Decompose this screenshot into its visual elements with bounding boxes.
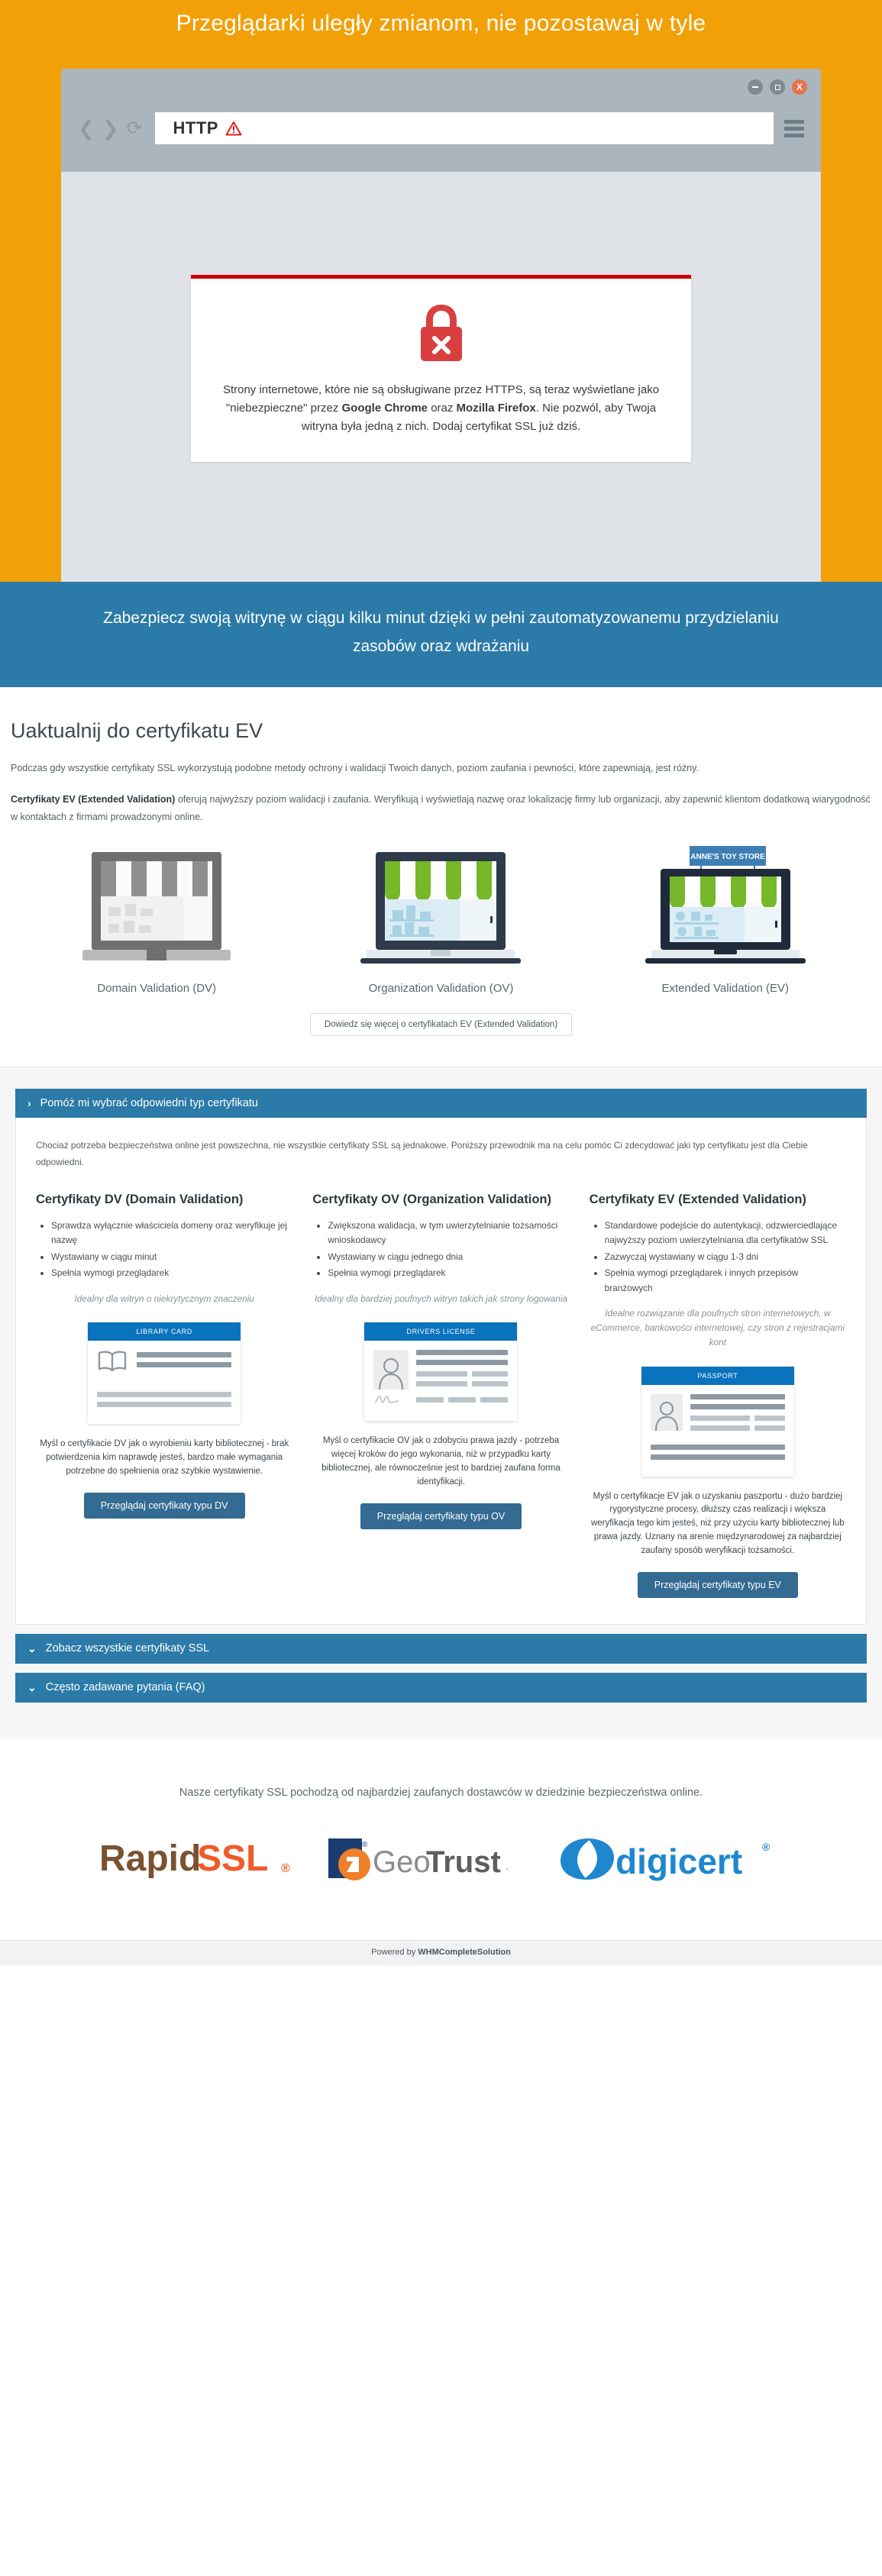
chevron-right-icon: › bbox=[27, 1097, 31, 1109]
svg-text:Geo: Geo bbox=[373, 1845, 431, 1879]
close-icon[interactable]: X bbox=[792, 79, 807, 95]
card-mock: DRIVERS LICENSE bbox=[364, 1322, 517, 1421]
accordion-label: Zobacz wszystkie certyfikaty SSL bbox=[46, 1642, 209, 1654]
url-bar[interactable]: HTTP bbox=[155, 112, 774, 144]
chevron-down-icon: ⌄ bbox=[27, 1642, 37, 1655]
column-note: Idealny dla witryn o niekrytycznym znacz… bbox=[36, 1292, 292, 1306]
browse-ov-certificates-button[interactable]: Przeglądaj certyfikaty typu OV bbox=[360, 1503, 522, 1529]
list-item: Standardowe podejście do autentykacji, o… bbox=[605, 1219, 846, 1248]
placeholder-bar bbox=[472, 1381, 509, 1386]
column-description: Myśl o certyfikacje EV jak o uzyskaniu p… bbox=[590, 1490, 846, 1558]
learn-more-ev-button[interactable]: Dowiedz się więcej o certyfikatach EV (E… bbox=[310, 1013, 572, 1036]
person-portrait-icon bbox=[651, 1394, 683, 1431]
svg-text:®: ® bbox=[281, 1862, 290, 1875]
alert-bold-chrome: Google Chrome bbox=[342, 402, 428, 415]
padlock-error-icon bbox=[221, 302, 661, 364]
geotrust-logo: ® Geo Trust · bbox=[328, 1835, 557, 1887]
hero-title: Przeglądarki uległy zmianom, nie pozosta… bbox=[0, 0, 882, 37]
validation-level-ev: ANNE'S TOY STORE bbox=[598, 846, 853, 995]
placeholder-bar bbox=[448, 1397, 476, 1403]
storefront-grey-icon bbox=[29, 846, 284, 968]
powered-name: WHMCompleteSolution bbox=[418, 1948, 511, 1957]
forward-arrow-icon[interactable]: ❯ bbox=[102, 118, 119, 138]
accordion-body-choose: Chociaż potrzeba bezpieczeństwa online j… bbox=[15, 1118, 867, 1625]
placeholder-bar bbox=[97, 1402, 231, 1407]
svg-text:®: ® bbox=[362, 1841, 368, 1849]
certificate-comparison-columns: Certyfikaty DV (Domain Validation) Spraw… bbox=[36, 1191, 846, 1598]
url-text: HTTP bbox=[173, 118, 218, 138]
passport-image: PASSPORT bbox=[590, 1367, 846, 1477]
svg-text:SSL: SSL bbox=[197, 1838, 268, 1879]
person-portrait-icon bbox=[373, 1350, 409, 1390]
learn-more-wrapper: Dowiedz się więcej o certyfikatach EV (E… bbox=[11, 1013, 871, 1067]
column-bullets: Standardowe podejście do autentykacji, o… bbox=[590, 1219, 846, 1296]
column-button-wrapper: Przeglądaj certyfikaty typu DV bbox=[36, 1493, 292, 1519]
accordion-header-choose[interactable]: › Pomóż mi wybrać odpowiedni typ certyfi… bbox=[15, 1089, 867, 1118]
validation-levels: Domain Validation (DV) bbox=[11, 846, 871, 995]
validation-caption: Extended Validation (EV) bbox=[598, 982, 853, 995]
card-body bbox=[364, 1341, 517, 1421]
browse-dv-certificates-button[interactable]: Przeglądaj certyfikaty typu DV bbox=[84, 1493, 245, 1519]
card-title: DRIVERS LICENSE bbox=[364, 1322, 517, 1341]
browser-chrome-bar: X ❮ ❯ ⟳ HTTP bbox=[61, 69, 821, 172]
placeholder-bar bbox=[754, 1416, 784, 1421]
accordion-faq: ⌄ Często zadawane pytania (FAQ) bbox=[15, 1673, 867, 1703]
column-bullets: Zwiększona walidacja, w tym uwierzytelni… bbox=[312, 1219, 569, 1281]
column-bullets: Sprawdza wyłącznie właściciela domeny or… bbox=[36, 1219, 292, 1281]
validation-caption: Domain Validation (DV) bbox=[29, 982, 284, 995]
window-controls: X bbox=[748, 79, 807, 95]
accordion-header-all-certificates[interactable]: ⌄ Zobacz wszystkie certyfikaty SSL bbox=[15, 1634, 867, 1664]
validation-caption: Organization Validation (OV) bbox=[313, 982, 568, 995]
placeholder-bar bbox=[690, 1394, 785, 1399]
rapidssl-logo: Rapid SSL ® bbox=[99, 1835, 328, 1887]
list-item: Wystawiany w ciągu jednego dnia bbox=[328, 1250, 569, 1264]
svg-text:·: · bbox=[506, 1862, 509, 1874]
browser-nav-row: ❮ ❯ ⟳ HTTP bbox=[61, 112, 821, 144]
digicert-logo: digicert ® bbox=[557, 1835, 802, 1887]
column-button-wrapper: Przeglądaj certyfikaty typu EV bbox=[590, 1572, 846, 1598]
list-item: Sprawdza wyłącznie właściciela domeny or… bbox=[51, 1219, 292, 1248]
trusted-providers-section: Nasze certyfikaty SSL pochodzą od najbar… bbox=[0, 1739, 882, 1941]
guide-intro: Chociaż potrzeba bezpieczeństwa online j… bbox=[36, 1138, 846, 1171]
library-card-image: LIBRARY CARD bbox=[36, 1322, 292, 1424]
storefront-green-icon bbox=[313, 846, 568, 968]
ev-paragraph-1: Podczas gdy wszystkie certyfikaty SSL wy… bbox=[11, 760, 871, 777]
placeholder-bar bbox=[480, 1397, 508, 1403]
accordion-all-certificates: ⌄ Zobacz wszystkie certyfikaty SSL bbox=[15, 1634, 867, 1664]
placeholder-bar bbox=[690, 1416, 751, 1421]
placeholder-bar bbox=[416, 1381, 467, 1386]
card-title: LIBRARY CARD bbox=[88, 1322, 241, 1341]
placeholder-bar bbox=[416, 1397, 444, 1403]
page-title: Uaktualnij do certyfikatu EV bbox=[11, 719, 871, 743]
maximize-icon[interactable] bbox=[770, 79, 785, 95]
column-description: Myśl o certyfikacie OV jak o zdobyciu pr… bbox=[312, 1435, 569, 1489]
chevron-down-icon: ⌄ bbox=[27, 1681, 37, 1694]
svg-text:Rapid: Rapid bbox=[99, 1838, 201, 1879]
certificate-column-ev: Certyfikaty EV (Extended Validation) Sta… bbox=[590, 1191, 846, 1598]
warning-triangle-icon bbox=[225, 121, 242, 136]
column-note: Idealny dla bardziej poufnych witryn tak… bbox=[312, 1292, 569, 1306]
alert-mid: oraz bbox=[428, 402, 457, 415]
certificate-column-ov: Certyfikaty OV (Organization Validation)… bbox=[312, 1191, 569, 1598]
validation-level-dv: Domain Validation (DV) bbox=[29, 846, 284, 995]
svg-text:ANNE'S TOY STORE: ANNE'S TOY STORE bbox=[690, 853, 765, 861]
certificate-column-dv: Certyfikaty DV (Domain Validation) Spraw… bbox=[36, 1191, 292, 1598]
promo-banner: Zabezpiecz swoją witrynę w ciągu kilku m… bbox=[0, 582, 882, 687]
list-item: Wystawiany w ciągu minut bbox=[51, 1250, 292, 1264]
column-title: Certyfikaty EV (Extended Validation) bbox=[590, 1191, 846, 1208]
placeholder-bar bbox=[690, 1404, 785, 1409]
ev-paragraph-2-bold: Certyfikaty EV (Extended Validation) bbox=[11, 794, 175, 805]
svg-text:digicert: digicert bbox=[615, 1842, 742, 1881]
card-mock: PASSPORT bbox=[641, 1367, 794, 1477]
ev-paragraph-2: Certyfikaty EV (Extended Validation) ofe… bbox=[11, 791, 871, 826]
list-item: Spełnia wymogi przeglądarek bbox=[328, 1266, 569, 1280]
placeholder-bar bbox=[651, 1454, 785, 1460]
alert-bold-firefox: Mozilla Firefox bbox=[457, 402, 536, 415]
card-title: PASSPORT bbox=[641, 1367, 794, 1385]
open-book-icon bbox=[97, 1350, 128, 1377]
trusted-providers-text: Nasze certyfikaty SSL pochodzą od najbar… bbox=[76, 1784, 806, 1803]
drivers-license-image: DRIVERS LICENSE bbox=[312, 1322, 569, 1421]
column-note: Idealne rozwiązanie dla poufnych stron i… bbox=[590, 1306, 846, 1350]
placeholder-bar bbox=[97, 1392, 231, 1397]
placeholder-bar bbox=[472, 1371, 509, 1377]
column-title: Certyfikaty DV (Domain Validation) bbox=[36, 1191, 292, 1208]
back-arrow-icon[interactable]: ❮ bbox=[78, 118, 95, 138]
alert-message: Strony internetowe, które nie są obsługi… bbox=[221, 381, 661, 436]
signature-icon bbox=[373, 1393, 409, 1409]
provider-logos: Rapid SSL ® ® Geo Trust · digicert ® bbox=[76, 1835, 806, 1909]
reload-icon[interactable]: ⟳ bbox=[127, 119, 143, 138]
hamburger-menu-icon[interactable] bbox=[784, 120, 804, 137]
card-body bbox=[88, 1341, 241, 1424]
svg-text:®: ® bbox=[762, 1841, 771, 1853]
accordion-label: Pomóż mi wybrać odpowiedni typ certyfika… bbox=[40, 1097, 258, 1109]
storefront-green-signed-icon: ANNE'S TOY STORE bbox=[598, 846, 853, 968]
svg-text:Trust: Trust bbox=[426, 1845, 501, 1879]
accordion-header-faq[interactable]: ⌄ Często zadawane pytania (FAQ) bbox=[15, 1673, 867, 1703]
list-item: Spełnia wymogi przeglądarek i innych prz… bbox=[605, 1266, 846, 1296]
column-button-wrapper: Przeglądaj certyfikaty typu OV bbox=[312, 1503, 569, 1529]
accordion-label: Często zadawane pytania (FAQ) bbox=[46, 1681, 205, 1693]
placeholder-bar bbox=[416, 1360, 508, 1365]
placeholder-bar bbox=[416, 1350, 508, 1355]
column-description: Myśl o certyfikacie DV jak o wyrobieniu … bbox=[36, 1438, 292, 1478]
insecure-alert-card: Strony internetowe, które nie są obsługi… bbox=[191, 275, 691, 462]
placeholder-bar bbox=[690, 1425, 751, 1431]
alert-line-1: Strony internetowe, które nie są obsługi… bbox=[223, 383, 482, 396]
card-body bbox=[641, 1385, 794, 1477]
powered-prefix: Powered by bbox=[371, 1948, 418, 1957]
placeholder-bar bbox=[754, 1425, 784, 1431]
placeholder-bar bbox=[137, 1362, 231, 1367]
hero-section: Przeglądarki uległy zmianom, nie pozosta… bbox=[0, 0, 882, 582]
column-title: Certyfikaty OV (Organization Validation) bbox=[312, 1191, 569, 1208]
list-item: Zazwyczaj wystawiany w ciągu 1-3 dni bbox=[605, 1250, 846, 1264]
placeholder-bar bbox=[416, 1371, 467, 1377]
list-item: Spełnia wymogi przeglądarek bbox=[51, 1266, 292, 1280]
card-mock: LIBRARY CARD bbox=[88, 1322, 241, 1424]
browser-mockup: X ❮ ❯ ⟳ HTTP bbox=[61, 69, 821, 582]
powered-by-footer: Powered by WHMCompleteSolution bbox=[0, 1940, 882, 1965]
placeholder-bar bbox=[651, 1445, 785, 1450]
ev-upgrade-section: Uaktualnij do certyfikatu EV Podczas gdy… bbox=[0, 687, 882, 1067]
minimize-icon[interactable] bbox=[748, 79, 763, 95]
accordion-choose-certificate: › Pomóż mi wybrać odpowiedni typ certyfi… bbox=[15, 1089, 867, 1625]
list-item: Zwiększona walidacja, w tym uwierzytelni… bbox=[328, 1219, 569, 1248]
placeholder-bar bbox=[137, 1352, 231, 1357]
validation-level-ov: Organization Validation (OV) bbox=[313, 846, 568, 995]
accordion-area: › Pomóż mi wybrać odpowiedni typ certyfi… bbox=[0, 1067, 882, 1739]
browse-ev-certificates-button[interactable]: Przeglądaj certyfikaty typu EV bbox=[638, 1572, 798, 1598]
